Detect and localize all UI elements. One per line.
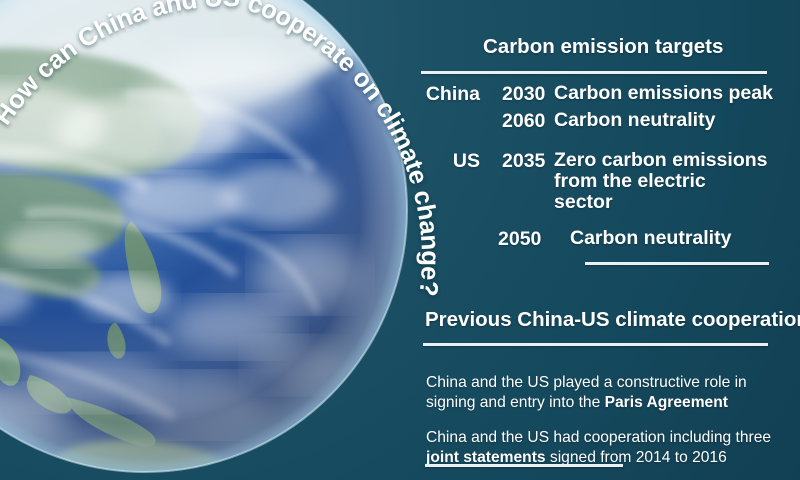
previous-paragraph: China and the US had cooperation includi… <box>426 428 778 469</box>
right-info-panel: Carbon emission targets China 2030 Carbo… <box>418 0 800 480</box>
target-year: 2035 <box>480 150 554 173</box>
previous-heading: Previous China-US climate cooperation <box>425 308 800 332</box>
target-country: China <box>418 83 480 106</box>
target-year: 2060 <box>480 110 554 133</box>
divider-targets-bottom <box>585 262 769 265</box>
target-description: Carbon neutrality <box>570 228 731 249</box>
divider-targets-top <box>421 71 767 74</box>
svg-text:How can China and US cooperate: How can China and US cooperate on climat… <box>0 0 444 297</box>
target-description: Carbon emissions peak <box>554 83 773 104</box>
target-row: 2060 Carbon neutrality <box>418 110 715 133</box>
target-row: 2050 Carbon neutrality <box>498 228 731 251</box>
target-row: US 2035 Zero carbon emissions from the e… <box>418 150 767 213</box>
previous-paragraph: China and the US played a constructive r… <box>426 373 778 414</box>
target-year: 2050 <box>498 228 570 251</box>
headline-title: How can China and US cooperate on climat… <box>0 0 440 300</box>
target-year: 2030 <box>480 83 554 106</box>
target-description: Carbon neutrality <box>554 110 715 131</box>
paragraph-text-bold: Paris Agreement <box>605 394 728 411</box>
targets-heading: Carbon emission targets <box>483 35 723 59</box>
paragraph-text-before: China and the US had cooperation includi… <box>426 429 771 446</box>
divider-previous-top <box>423 343 768 346</box>
target-row: China 2030 Carbon emissions peak <box>418 83 773 106</box>
infographic-canvas: How can China and US cooperate on climat… <box>0 0 800 480</box>
target-description: Zero carbon emissions from the electric … <box>554 150 767 213</box>
title-text: How can China and US cooperate on climat… <box>0 0 444 297</box>
divider-previous-bottom <box>425 464 623 467</box>
target-country: US <box>418 150 480 173</box>
